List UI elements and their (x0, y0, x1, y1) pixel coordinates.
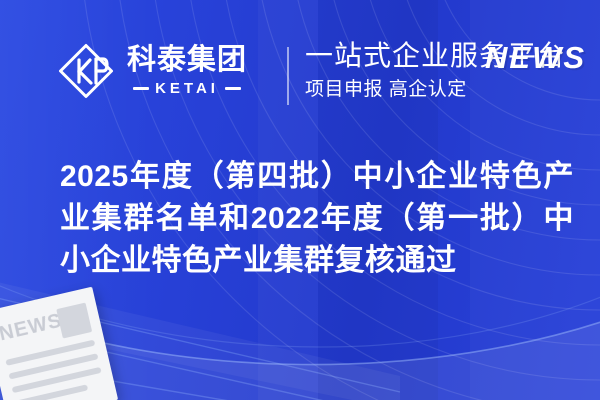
brand-name-cn: 科泰集团 (127, 45, 247, 76)
brand-logo-text: 科泰集团 KETAI (127, 45, 247, 96)
ketai-kp-monogram-icon (57, 42, 115, 100)
tagline-sub: 项目申报 高企认定 (305, 78, 566, 103)
logo-rule-left (133, 87, 149, 90)
news-banner: 科泰集团 KETAI 一站式企业服务平台 项目申报 高企认定 NEWS 2025… (0, 0, 600, 400)
news-badge: NEWS (485, 40, 586, 76)
page-title: 2025年度（第四批）中小企业特色产业集群名单和2022年度（第一批）中小企业特… (60, 156, 574, 282)
logo-rule-right (225, 87, 241, 90)
brand-name-en: KETAI (155, 80, 219, 97)
banner-header: 科泰集团 KETAI 一站式企业服务平台 项目申报 高企认定 NEWS (0, 36, 600, 116)
brand-logo[interactable]: 科泰集团 KETAI (57, 42, 247, 100)
header-divider (287, 47, 289, 105)
brand-name-en-row: KETAI (133, 80, 241, 97)
